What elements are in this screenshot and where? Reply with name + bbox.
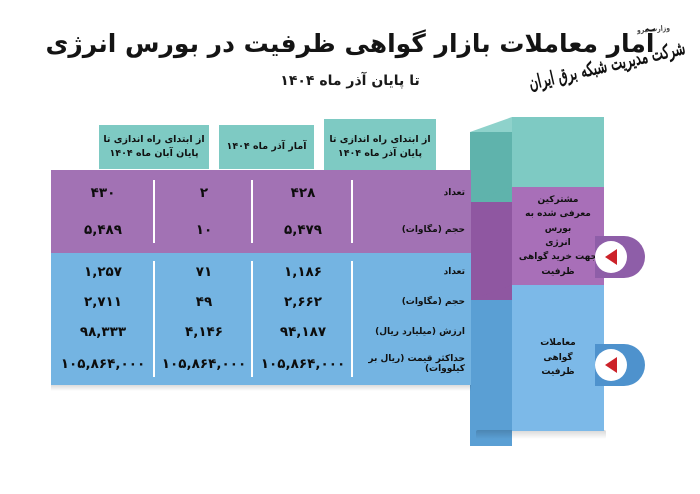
cell-cumulative-azar: ۴۳۰	[51, 185, 155, 201]
column-separator	[153, 261, 155, 377]
cell-cumulative-azar: ۵,۴۸۹	[51, 222, 155, 238]
cell-cumulative-aban: ۲,۶۶۲	[253, 294, 353, 310]
cell-azar: ۴,۱۴۶	[155, 324, 253, 340]
column-header-cumulative-aban: از ابتدای راه اندازی تا پایان آبان ماه ۱…	[99, 125, 209, 169]
table-row: حجم (مگاوات) ۲,۶۶۲ ۴۹ ۲,۷۱۱	[51, 287, 471, 317]
table-row: ارزش (میلیارد ریال) ۹۴,۱۸۷ ۴,۱۴۶ ۹۸,۳۳۳	[51, 317, 471, 347]
column-header-azar: آمار آذر ماه ۱۴۰۴	[219, 125, 314, 169]
cell-azar: ۱۰	[155, 222, 253, 238]
column-separator	[251, 261, 253, 377]
table-row: حداکثر قیمت (ریال بر کیلووات) ۱۰۵,۸۶۴,۰۰…	[51, 347, 471, 381]
arrow-pill-subscribers[interactable]	[595, 236, 645, 278]
cell-cumulative-azar: ۱۰۵,۸۶۴,۰۰۰	[51, 356, 155, 372]
block-drop-shadow	[476, 430, 606, 439]
arrow-knob-transactions	[595, 349, 627, 381]
block-segment-subscribers[interactable]: مشترکین معرفی شده به بورس انرژی جهت خرید…	[512, 187, 604, 285]
cell-cumulative-azar: ۲,۷۱۱	[51, 294, 155, 310]
cell-azar: ۲	[155, 185, 253, 201]
segment-label-transactions: معاملات گواهی ظرفیت	[540, 336, 575, 379]
data-panel-transactions: تعداد ۱,۱۸۶ ۷۱ ۱,۲۵۷ حجم (مگاوات) ۲,۶۶۲ …	[51, 253, 471, 385]
page-title: آمار معاملات بازار گواهی ظرفیت در بورس ا…	[0, 28, 700, 59]
segment-label-subscribers: مشترکین معرفی شده به بورس انرژی جهت خرید…	[512, 193, 604, 279]
row-label: تعداد	[353, 267, 471, 277]
block-segment-teal	[512, 117, 604, 187]
cell-cumulative-aban: ۵,۴۷۹	[253, 222, 353, 238]
panel-drop-shadow	[51, 385, 471, 391]
data-panel-subscribers: تعداد ۴۲۸ ۲ ۴۳۰ حجم (مگاوات) ۵,۴۷۹ ۱۰ ۵,…	[51, 170, 471, 253]
title-block: آمار معاملات بازار گواهی ظرفیت در بورس ا…	[0, 28, 700, 89]
column-separator	[153, 180, 155, 243]
row-label: تعداد	[353, 188, 471, 198]
table-row: حجم (مگاوات) ۵,۴۷۹ ۱۰ ۵,۴۸۹	[51, 212, 471, 250]
column-header-cumulative-azar: از ابتدای راه اندازی تا پایان آذر ماه ۱۴…	[324, 119, 436, 175]
block-segment-transactions[interactable]: معاملات گواهی ظرفیت	[512, 285, 604, 431]
column-separator	[351, 261, 353, 377]
page-subtitle: تا پایان آذر ماه ۱۴۰۴	[0, 73, 700, 89]
cell-cumulative-azar: ۹۸,۳۳۳	[51, 324, 155, 340]
row-label: حداکثر قیمت (ریال بر کیلووات)	[353, 354, 471, 374]
row-label: حجم (مگاوات)	[353, 297, 471, 307]
arrow-left-icon	[605, 357, 617, 373]
block-side-purple	[470, 202, 512, 300]
cell-cumulative-aban: ۴۲۸	[253, 185, 353, 201]
column-separator	[351, 180, 353, 243]
arrow-pill-transactions[interactable]	[595, 344, 645, 386]
block-side-blue	[470, 300, 512, 446]
cell-azar: ۴۹	[155, 294, 253, 310]
cell-cumulative-aban: ۹۴,۱۸۷	[253, 324, 353, 340]
row-label: ارزش (میلیارد ریال)	[353, 327, 471, 337]
column-separator	[251, 180, 253, 243]
cell-azar: ۱۰۵,۸۶۴,۰۰۰	[155, 356, 253, 372]
cell-cumulative-aban: ۱,۱۸۶	[253, 264, 353, 280]
table-row: تعداد ۱,۱۸۶ ۷۱ ۱,۲۵۷	[51, 257, 471, 287]
cell-azar: ۷۱	[155, 264, 253, 280]
table-row: تعداد ۴۲۸ ۲ ۴۳۰	[51, 174, 471, 212]
row-label: حجم (مگاوات)	[353, 225, 471, 235]
infographic-root: آمار معاملات بازار گواهی ظرفیت در بورس ا…	[0, 0, 700, 494]
arrow-left-icon	[605, 249, 617, 265]
cell-cumulative-azar: ۱,۲۵۷	[51, 264, 155, 280]
cell-cumulative-aban: ۱۰۵,۸۶۴,۰۰۰	[253, 356, 353, 372]
arrow-knob-subscribers	[595, 241, 627, 273]
